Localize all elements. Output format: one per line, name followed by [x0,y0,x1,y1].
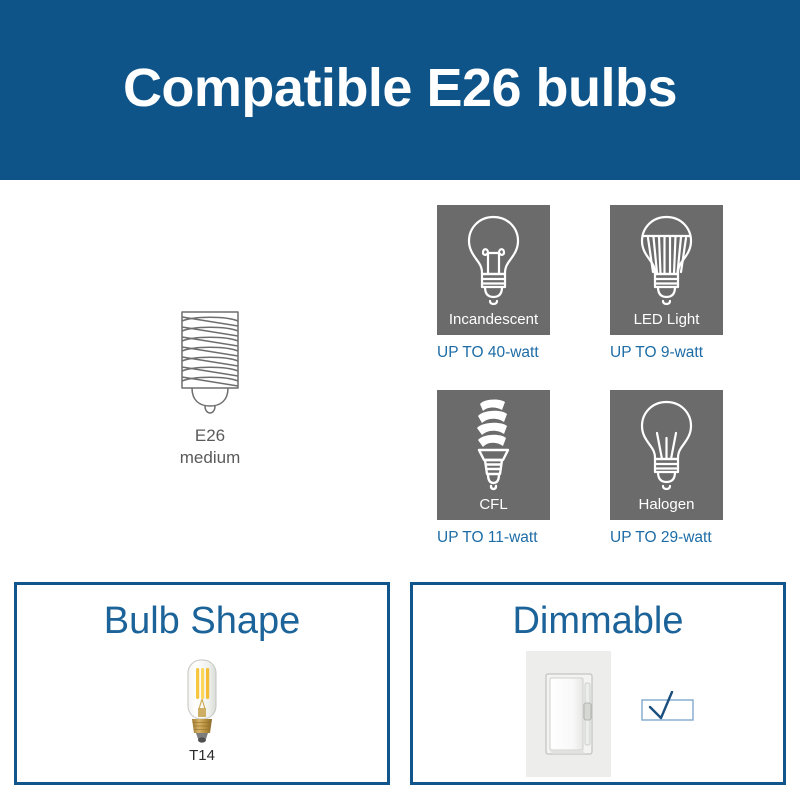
bulb-card-led-light: LED Light UP TO 9-watt [610,205,723,362]
e26-base-line-2: medium [120,447,300,469]
check-icon [650,692,672,718]
bulb-card-name: Halogen [610,496,723,514]
cfl-spiral-bulb-icon [437,394,550,492]
bulb-shape-panel: Bulb Shape [14,582,390,785]
bulb-card-wattage: UP TO 29-watt [610,529,723,547]
bulb-card-tile: LED Light [610,205,723,335]
infographic-page: Compatible E26 bulbs [0,0,800,800]
bulb-card-halogen: Halogen UP TO 29-watt [610,390,723,547]
bulb-card-name: LED Light [610,311,723,329]
bulb-card-wattage: UP TO 9-watt [610,344,723,362]
incandescent-bulb-icon [437,209,550,307]
bulb-card-name: CFL [437,496,550,514]
header-banner: Compatible E26 bulbs [0,0,800,180]
halogen-bulb-icon [610,394,723,492]
bulb-shape-title: Bulb Shape [17,599,387,643]
bulb-card-name: Incandescent [437,311,550,329]
e26-base-block: E26 medium [120,300,300,469]
page-title: Compatible E26 bulbs [0,56,800,120]
bulb-card-wattage: UP TO 40-watt [437,344,550,362]
e26-base-label: E26 medium [120,425,300,469]
bulb-card-tile: CFL [437,390,550,520]
bulb-shape-code: T14 [17,747,387,765]
bulb-card-tile: Halogen [610,390,723,520]
e26-screw-base-icon [160,300,260,415]
dimmer-switch-photo [526,651,611,777]
e26-base-line-1: E26 [120,425,300,447]
dimmable-panel: Dimmable [410,582,786,785]
bulb-card-tile: Incandescent [437,205,550,335]
dimmer-switch-graphic [526,651,611,777]
t14-tubular-filament-bulb-photo [179,657,225,745]
bulb-card-wattage: UP TO 11-watt [437,529,550,547]
dimmable-title: Dimmable [413,599,783,643]
led-bulb-icon [610,209,723,307]
dimmable-checked-checkbox[interactable] [641,691,694,721]
bulb-type-card-grid: Incandescent UP TO 40-watt [437,205,727,555]
bulb-card-incandescent: Incandescent UP TO 40-watt [437,205,550,362]
bulb-card-cfl: CFL UP TO 11-watt [437,390,550,547]
